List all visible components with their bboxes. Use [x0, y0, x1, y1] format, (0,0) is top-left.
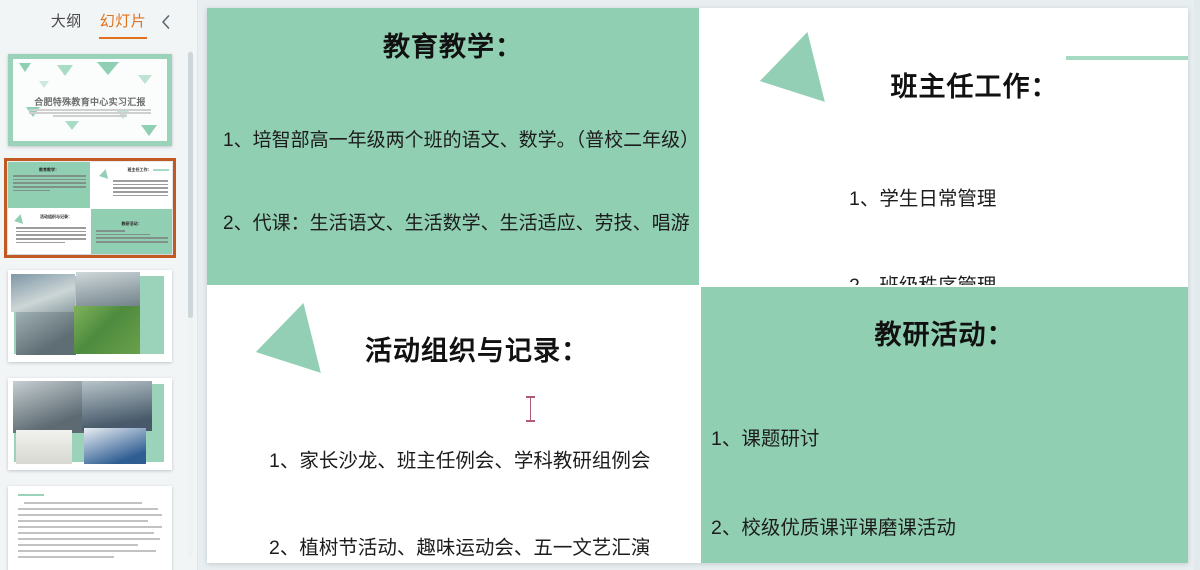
- thumbnail-title: 合肥特殊教育中心实习汇报: [13, 95, 167, 108]
- triangle-icon: [141, 125, 157, 136]
- list-item[interactable]: 合肥特殊教育中心实习汇报: [8, 54, 172, 146]
- slide-thumbnail-5[interactable]: [8, 486, 172, 570]
- accent-line: [153, 169, 169, 171]
- sidebar-scrollbar-track[interactable]: [188, 50, 193, 558]
- accent-line: [18, 494, 44, 496]
- quadrant-bottom-left[interactable]: 活动组织与记录： 1、家长沙龙、班主任例会、学科教研组例会 2、植树节活动、趣味…: [207, 287, 699, 563]
- body-line: 1、家长沙龙、班主任例会、学科教研组例会: [269, 447, 699, 476]
- photo: [16, 430, 72, 464]
- slide-thumbnail-3[interactable]: [8, 270, 172, 362]
- slide-thumbnail-4[interactable]: [8, 378, 172, 470]
- triangle-icon: [97, 62, 119, 75]
- slide-thumbnail-1[interactable]: 合肥特殊教育中心实习汇报: [8, 54, 172, 146]
- body-line: 2、代课：生活语文、生活数学、生活适应、劳技、唱游: [223, 210, 699, 238]
- photo: [16, 312, 76, 355]
- thumb-quadrant-br: 教研活动：: [91, 209, 172, 254]
- presentation-editor: 大纲 幻灯片: [0, 0, 1200, 570]
- quadrant-bottom-right[interactable]: 教研活动： 1、课题研讨 2、校级优质课评课磨课活动 3、合肥、安庆两市联合教研…: [701, 287, 1188, 563]
- thumb-quadrant-title: 教育教学：: [8, 167, 90, 173]
- thumbnail-subtitle: [29, 109, 151, 113]
- tab-outline[interactable]: 大纲: [50, 8, 83, 36]
- triangle-icon: [57, 65, 73, 76]
- body-line: 1、课题研讨: [711, 425, 1188, 455]
- quadrant-body-classteacher[interactable]: 1、学生日常管理 2、班级秩序管理 3、家校协同沟通 4、个别化教育计划跟进 5…: [849, 126, 1188, 285]
- quadrant-top-right[interactable]: 班主任工作： 1、学生日常管理 2、班级秩序管理 3、家校协同沟通 4、个别化教…: [701, 8, 1188, 285]
- triangle-icon: [19, 63, 31, 72]
- slide-thumbnail-2[interactable]: 教育教学： 班主任工作： 活动组织与记录：: [8, 162, 172, 254]
- list-item[interactable]: [8, 378, 172, 470]
- triangle-icon: [138, 75, 152, 84]
- triangle-icon: [65, 121, 79, 130]
- quadrant-top-left[interactable]: 教育教学： 1、培智部高一年级两个班的语文、数学。（普校二年级） 2、代课：生活…: [207, 8, 699, 285]
- sidebar-scrollbar-thumb[interactable]: [188, 52, 193, 318]
- current-slide[interactable]: 教育教学： 1、培智部高一年级两个班的语文、数学。（普校二年级） 2、代课：生活…: [207, 8, 1188, 563]
- triangle-icon: [39, 81, 49, 88]
- photo: [76, 272, 140, 309]
- triangle-left-icon: [247, 303, 321, 387]
- list-item[interactable]: [8, 486, 172, 570]
- quadrant-body-activities[interactable]: 1、家长沙龙、班主任例会、学科教研组例会 2、植树节活动、趣味运动会、五一文艺汇…: [269, 388, 699, 563]
- thumb-quadrant-bl: 活动组织与记录：: [8, 209, 90, 254]
- body-line: 2、班级秩序管理: [849, 272, 1188, 285]
- photo: [84, 428, 146, 464]
- thumb-quadrant-lines: [13, 175, 86, 193]
- slide-canvas-area: 教育教学： 1、培智部高一年级两个班的语文、数学。（普校二年级） 2、代课：生活…: [198, 0, 1200, 570]
- quadrant-body-research[interactable]: 1、课题研讨 2、校级优质课评课磨课活动 3、合肥、安庆两市联合教研活动（桐城特…: [711, 366, 1188, 563]
- photo: [82, 381, 152, 431]
- canvas-right-gutter: [1194, 0, 1200, 570]
- list-item[interactable]: [8, 270, 172, 362]
- list-item-selected[interactable]: 教育教学： 班主任工作： 活动组织与记录：: [8, 162, 172, 254]
- photo: [11, 274, 75, 312]
- tab-slides[interactable]: 幻灯片: [99, 8, 148, 36]
- thumb-quadrant-title: 活动组织与记录：: [8, 214, 90, 220]
- slide-navigator-sidebar: 大纲 幻灯片: [0, 0, 198, 570]
- accent-line: [1066, 56, 1188, 60]
- thumb-quadrant-title: 教研活动：: [91, 221, 172, 227]
- quadrant-title-education: 教育教学：: [207, 25, 699, 64]
- body-line: 1、培智部高一年级两个班的语文、数学。（普校二年级）: [223, 127, 699, 155]
- body-line: 2、校级优质课评课磨课活动: [711, 514, 1188, 544]
- text-cursor: [530, 396, 531, 422]
- thumb-quadrant-tl: 教育教学：: [8, 162, 90, 208]
- quadrant-body-education[interactable]: 1、培智部高一年级两个班的语文、数学。（普校二年级） 2、代课：生活语文、生活数…: [223, 72, 699, 285]
- slide-thumbnail-list[interactable]: 合肥特殊教育中心实习汇报 教育教学： 班主任工作：: [0, 44, 198, 570]
- photo: [74, 306, 140, 354]
- body-line: 1、学生日常管理: [849, 185, 1188, 214]
- chevron-left-icon[interactable]: [155, 12, 175, 32]
- quadrant-title-research: 教研活动：: [701, 313, 1188, 352]
- thumb-quadrant-tr: 班主任工作：: [91, 162, 172, 208]
- body-line: 2、植树节活动、趣味运动会、五一文艺汇演: [269, 534, 699, 563]
- sidebar-tab-bar: 大纲 幻灯片: [0, 0, 197, 44]
- photo: [13, 381, 85, 433]
